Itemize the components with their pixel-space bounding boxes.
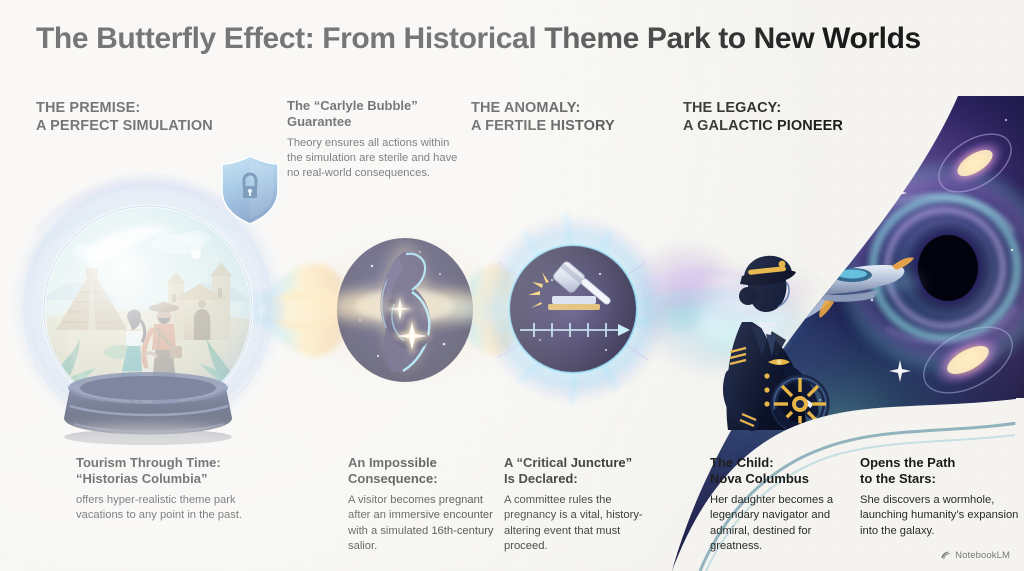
caption-body: Her daughter becomes a legendary navigat… [710, 493, 850, 555]
caption-body: A visitor becomes pregnant after an imme… [348, 493, 498, 555]
infographic-canvas: The Butterfly Effect: From Historical Th… [0, 0, 1024, 571]
caption-path-to-stars: Opens the Path to the Stars: She discove… [860, 455, 1020, 539]
carlyle-bubble-note: The “Carlyle Bubble” Guarantee Theory en… [287, 98, 459, 181]
caption-title: An Impossible Consequence: [348, 455, 498, 488]
caption-title: Tourism Through Time: “Historias Columbi… [76, 455, 256, 488]
section-heading-premise: THE PREMISE: A PERFECT SIMULATION [36, 100, 213, 135]
caption-critical-juncture: A “Critical Juncture” Is Declared: A com… [504, 455, 654, 555]
gavel-critical-juncture-artwork [477, 213, 669, 405]
notebooklm-logo-icon [940, 550, 951, 561]
shield-lock-artwork [212, 148, 288, 224]
caption-tourism: Tourism Through Time: “Historias Columbi… [76, 455, 256, 524]
caption-body: offers hyper-realistic theme park vacati… [76, 493, 256, 524]
caption-impossible-consequence: An Impossible Consequence: A visitor bec… [348, 455, 498, 555]
carlyle-bubble-body: Theory ensures all actions within the si… [287, 136, 459, 181]
notebooklm-watermark-label: NotebookLM [955, 550, 1010, 561]
carlyle-bubble-title: The “Carlyle Bubble” Guarantee [287, 98, 459, 131]
caption-title: The Child: Nova Columbus [710, 455, 850, 488]
section-heading-anomaly: THE ANOMALY: A FERTILE HISTORY [471, 100, 615, 135]
caption-title: Opens the Path to the Stars: [860, 455, 1020, 488]
notebooklm-watermark: NotebookLM [940, 550, 1010, 561]
section-heading-legacy: THE LEGACY: A GALACTIC PIONEER [683, 100, 843, 135]
caption-title: A “Critical Juncture” Is Declared: [504, 455, 654, 488]
caption-body: She discovers a wormhole, launching huma… [860, 493, 1020, 539]
caption-body: A committee rules the pregnancy is a vit… [504, 493, 654, 555]
page-title: The Butterfly Effect: From Historical Th… [36, 22, 996, 56]
caption-the-child: The Child: Nova Columbus Her daughter be… [710, 455, 850, 555]
